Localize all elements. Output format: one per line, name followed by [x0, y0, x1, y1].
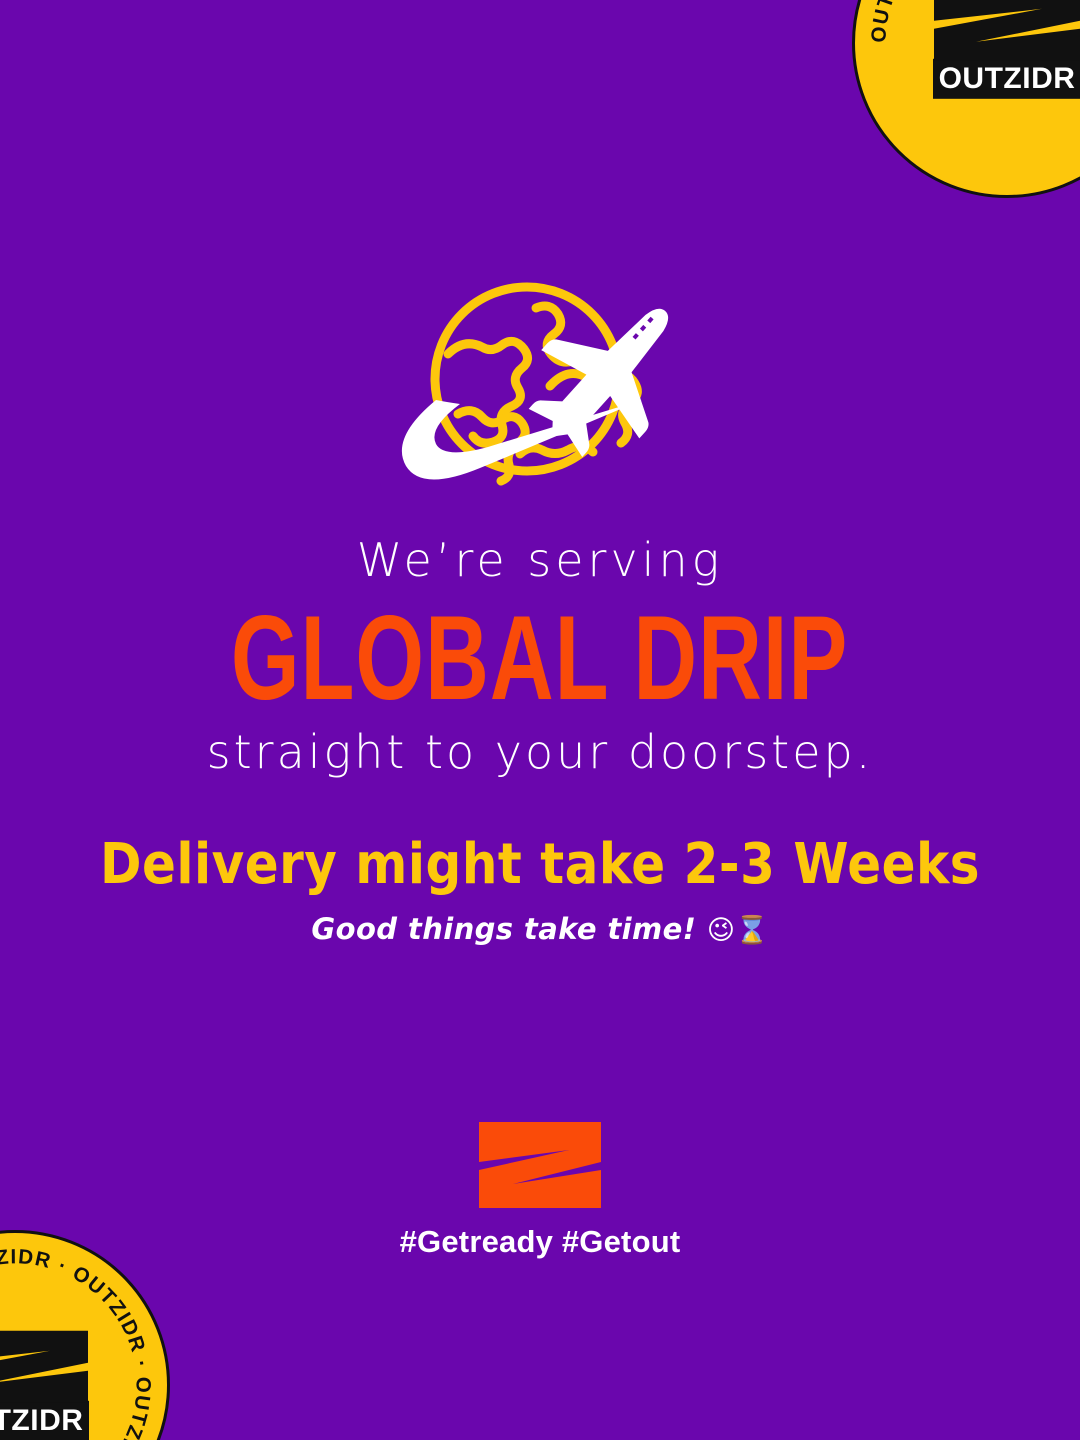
reassurance-text: Good things take time!	[311, 912, 696, 946]
badge-wordmark-bottom-left: OUTZIDR	[0, 1401, 89, 1440]
badge-wordmark-top-right: OUTZIDR	[933, 59, 1080, 99]
globe-airplane-icon	[370, 276, 710, 501]
badge-z-icon-top-right	[932, 0, 1080, 63]
badge-z-icon-bottom-left	[0, 1329, 90, 1405]
z-logo	[477, 1120, 603, 1210]
page-title: GLOBAL DRIP	[231, 599, 848, 719]
badge-core-top-right: OUTZIDR	[914, 0, 1080, 99]
poster-canvas: We’re serving GLOBAL DRIP straight to yo…	[0, 0, 1080, 1440]
badge-core-bottom-left: OUTZIDR	[0, 1329, 108, 1440]
wink-hourglass-emoji: 😉⌛	[707, 915, 769, 946]
headline-subtitle: straight to your doorstep.	[207, 729, 874, 775]
reassurance-line: Good things take time! 😉⌛	[311, 915, 768, 944]
outzidr-badge-top-right: OUTZIDR · OUTZIDR · OUTZIDR · OUTZIDR · …	[852, 0, 1080, 198]
delivery-notice: Delivery might take 2-3 Weeks	[100, 836, 980, 892]
headline-eyebrow: We’re serving	[357, 537, 723, 583]
outzidr-badge-bottom-left: OUTZIDR · OUTZIDR · OUTZIDR · OUTZIDR · …	[0, 1230, 170, 1440]
